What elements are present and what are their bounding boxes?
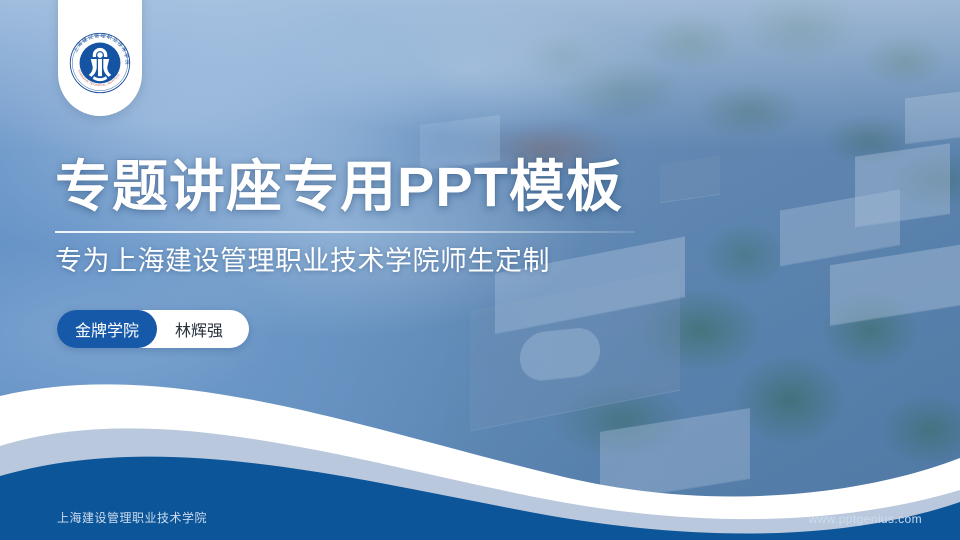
title-divider (55, 231, 635, 233)
logo-tab: 上海建设管理职业技术学院 SHANGHAI TECHNICAL INSTITUT… (58, 0, 142, 116)
headline-block: 专题讲座专用PPT模板 专为上海建设管理职业技术学院师生定制 (55, 158, 695, 277)
top-gradient-overlay (0, 0, 960, 150)
footer-website[interactable]: www.pptgenius.com (808, 512, 922, 526)
badge-presenter-name: 林辉强 (157, 317, 245, 341)
presenter-badge[interactable]: 金牌学院 林辉强 (57, 310, 249, 348)
presentation-slide: 上海建设管理职业技术学院 SHANGHAI TECHNICAL INSTITUT… (0, 0, 960, 540)
badge-category[interactable]: 金牌学院 (57, 310, 157, 348)
slide-subtitle: 专为上海建设管理职业技术学院师生定制 (55, 245, 695, 277)
slide-title: 专题讲座专用PPT模板 (55, 158, 695, 217)
footer-institution: 上海建设管理职业技术学院 (57, 509, 207, 526)
university-crest-icon: 上海建设管理职业技术学院 SHANGHAI TECHNICAL INSTITUT… (67, 30, 133, 96)
